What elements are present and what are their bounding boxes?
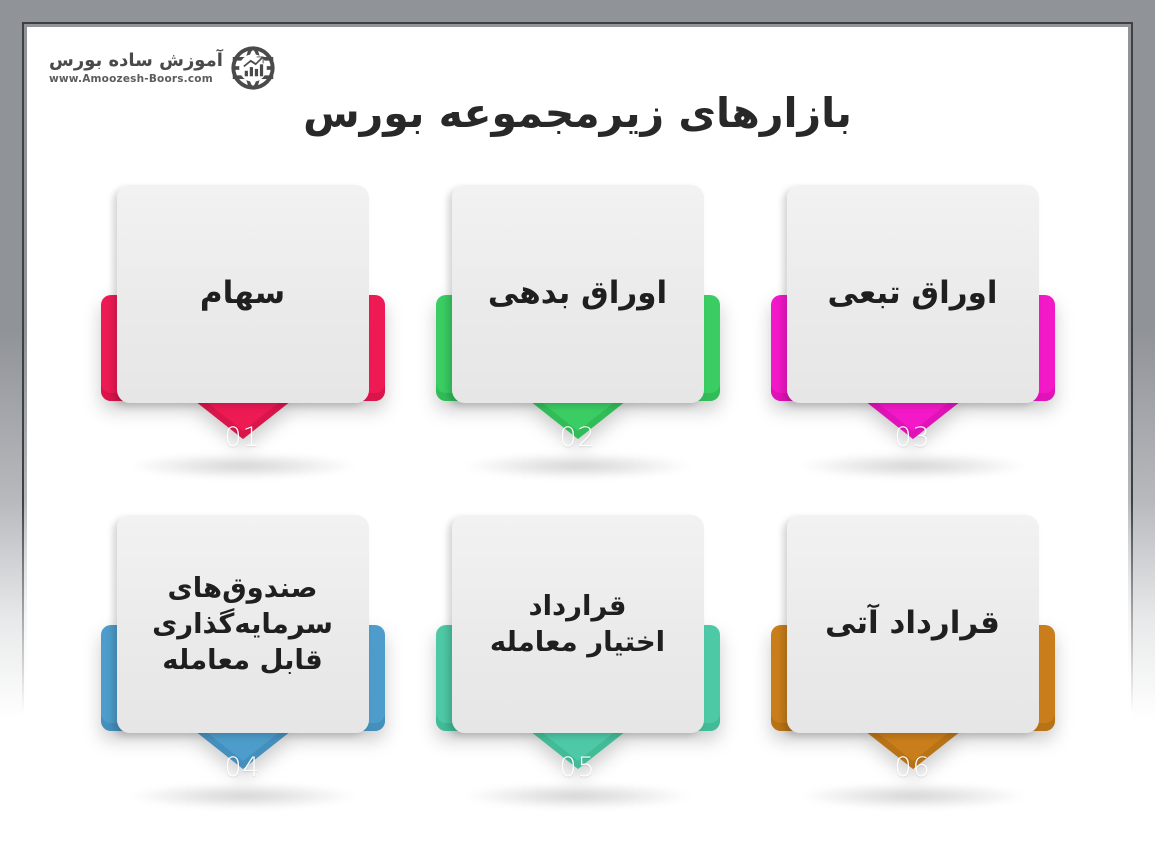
card-label: قرارداد اختیار معامله: [490, 588, 665, 661]
card-panel[interactable]: قرارداد اختیار معامله: [452, 515, 704, 733]
page-title: بازارهای زیرمجموعه بورس: [27, 89, 1128, 137]
brand-url: www.Amoozesh-Boors.com: [49, 73, 213, 85]
card-shadow: [462, 783, 694, 809]
card-number: 03: [763, 422, 1063, 453]
card-panel[interactable]: سهام: [117, 185, 369, 403]
globe-bar-chart-icon: [230, 45, 276, 91]
poster-page: آموزش ساده بورس www.Amoozesh-Boors.com ب…: [27, 27, 1128, 865]
card-label: قرارداد آتی: [825, 604, 1000, 643]
card-shadow: [462, 453, 694, 479]
card-panel[interactable]: اوراق بدهی: [452, 185, 704, 403]
market-card[interactable]: 05قرارداد اختیار معامله: [428, 507, 728, 807]
markets-grid: 01سهام02اوراق بدهی03اوراق تبعی04صندوق‌ها…: [75, 177, 1080, 837]
card-number: 05: [428, 752, 728, 783]
card-panel[interactable]: صندوق‌های سرمایه‌گذاری قابل معامله: [117, 515, 369, 733]
card-number: 01: [93, 422, 393, 453]
brand-name: آموزش ساده بورس: [49, 51, 223, 71]
card-label: اوراق تبعی: [827, 274, 997, 313]
card-shadow: [127, 783, 359, 809]
market-card[interactable]: 01سهام: [93, 177, 393, 477]
brand-logo-text: آموزش ساده بورس www.Amoozesh-Boors.com: [49, 51, 223, 85]
card-panel[interactable]: قرارداد آتی: [787, 515, 1039, 733]
market-card[interactable]: 02اوراق بدهی: [428, 177, 728, 477]
card-label: سهام: [200, 274, 285, 313]
market-card[interactable]: 06قرارداد آتی: [763, 507, 1063, 807]
card-shadow: [797, 453, 1029, 479]
card-number: 02: [428, 422, 728, 453]
market-card[interactable]: 04صندوق‌های سرمایه‌گذاری قابل معامله: [93, 507, 393, 807]
card-shadow: [127, 453, 359, 479]
brand-logo: آموزش ساده بورس www.Amoozesh-Boors.com: [49, 45, 276, 91]
market-card[interactable]: 03اوراق تبعی: [763, 177, 1063, 477]
card-panel[interactable]: اوراق تبعی: [787, 185, 1039, 403]
card-number: 04: [93, 752, 393, 783]
card-label: اوراق بدهی: [488, 274, 667, 313]
card-number: 06: [763, 752, 1063, 783]
card-shadow: [797, 783, 1029, 809]
card-label: صندوق‌های سرمایه‌گذاری قابل معامله: [152, 570, 333, 679]
